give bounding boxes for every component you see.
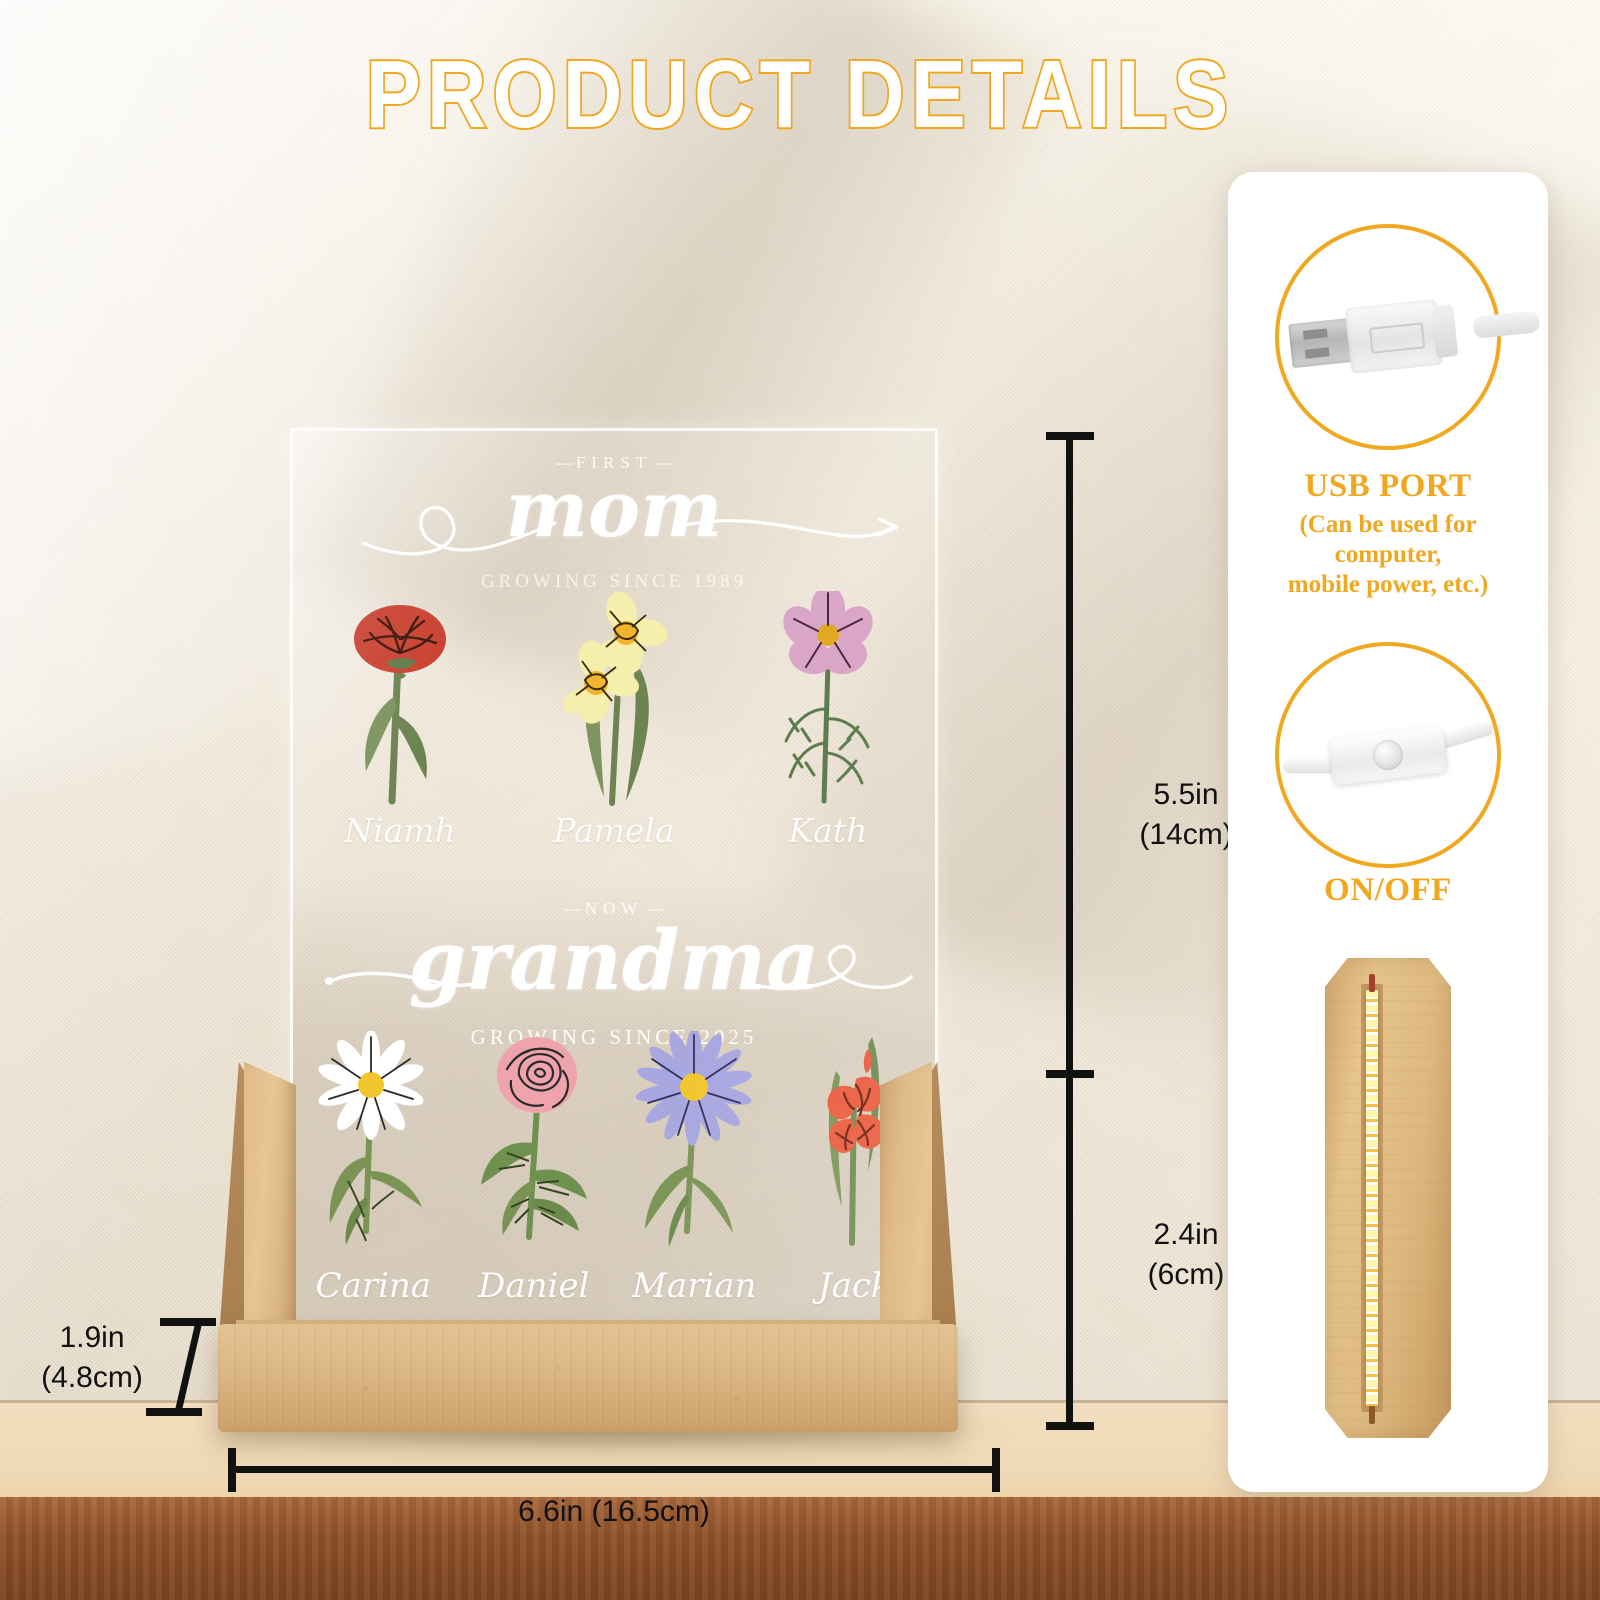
- usb-note-line-3: mobile power, etc.): [1228, 570, 1548, 600]
- wood-grain: [218, 1324, 958, 1432]
- features-card: USB PORT (Can be used for computer, mobi…: [1228, 172, 1548, 1492]
- flower-cell-pamela: Pamela: [507, 591, 721, 850]
- onoff-label: ON/OFF: [1228, 872, 1548, 909]
- base-height-dimension-line: [1066, 1078, 1073, 1430]
- led-base-wood: [1325, 958, 1451, 1438]
- width-dim-cap-left: [228, 1448, 236, 1492]
- height-dim-cap-mid: [1046, 1070, 1094, 1078]
- wooden-stand: [218, 1062, 958, 1432]
- inline-switch-icon: [1285, 711, 1491, 799]
- mom-growing-since: GROWING SINCE 1989: [293, 571, 935, 593]
- usb-cable: [1472, 310, 1540, 339]
- led-strip: [1366, 990, 1378, 1406]
- usb-trident-icon: [1369, 322, 1425, 354]
- flower-name: Kath: [721, 811, 935, 850]
- page-title: PRODUCT DETAILS: [112, 40, 1488, 150]
- width-value: 6.6in (16.5cm): [404, 1492, 824, 1532]
- daffodil-icon: [534, 591, 694, 806]
- usb-note-line-1: (Can be used for: [1228, 510, 1548, 540]
- flower-cell-niamh: Niamh: [293, 591, 507, 850]
- cosmos-icon: [748, 591, 908, 806]
- width-dimension-label: 6.6in (16.5cm): [404, 1492, 824, 1532]
- product-details-image: PRODUCT DETAILS — FIRST — mom GROWING: [0, 0, 1600, 1600]
- mom-script-text: mom: [293, 467, 935, 553]
- led-base-grain: [1325, 958, 1451, 1438]
- stand-leg-left-face: [218, 1062, 244, 1352]
- usb-plastic-body: [1345, 299, 1443, 374]
- depth-inches: 1.9in: [12, 1318, 172, 1358]
- flower-name: Niamh: [293, 811, 507, 850]
- height-dim-cap-top: [1046, 432, 1094, 440]
- switch-body: [1328, 724, 1449, 786]
- top-flower-row: Niamh: [293, 591, 935, 850]
- usb-circle-frame: [1275, 224, 1501, 450]
- flower-cell-kath: Kath: [721, 591, 935, 850]
- usb-port-label: USB PORT: [1228, 468, 1548, 505]
- stand-base: [218, 1324, 958, 1432]
- usb-metal-tip: [1288, 318, 1354, 368]
- switch-button: [1371, 738, 1404, 771]
- stand-leg-right-face: [932, 1062, 958, 1352]
- carnation-icon: [320, 591, 480, 806]
- usb-connector-icon: [1287, 294, 1489, 380]
- height-dimension-line: [1066, 432, 1073, 1078]
- depth-dimension-label: 1.9in (4.8cm): [12, 1318, 172, 1398]
- wooden-base-led-strip-icon: [1325, 958, 1451, 1438]
- led-wire-bottom: [1369, 1406, 1375, 1424]
- switch-circle-frame: [1275, 642, 1501, 868]
- width-dim-cap-right: [992, 1448, 1000, 1492]
- depth-dim-cap-bot: [146, 1408, 202, 1416]
- depth-cm: (4.8cm): [12, 1358, 172, 1398]
- width-dimension-line: [228, 1466, 1000, 1473]
- grandma-heading-block: — NOW — grandma GROWING SINCE 2025: [293, 899, 935, 1050]
- flower-name: Pamela: [507, 811, 721, 850]
- grandma-script-text: grandma: [293, 915, 935, 1007]
- mom-heading-block: — FIRST — mom GROWING SINCE 1989: [293, 453, 935, 593]
- led-diodes: [1366, 990, 1378, 1406]
- base-height-dim-cap-bot: [1046, 1422, 1094, 1430]
- led-wire-top: [1369, 974, 1375, 992]
- usb-note-line-2: computer,: [1228, 540, 1548, 570]
